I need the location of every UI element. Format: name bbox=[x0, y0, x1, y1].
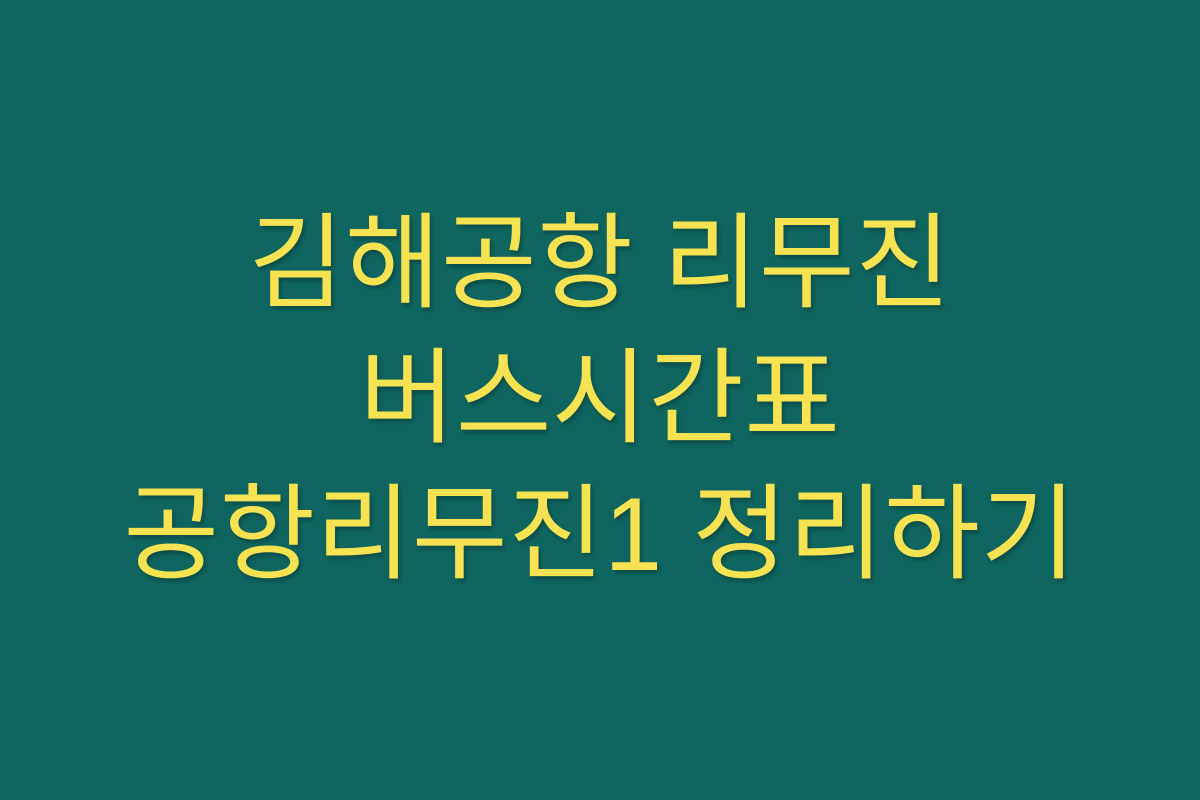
page-title: 김해공항 리무진 버스시간표 공항리무진1 정리하기 bbox=[104, 197, 1096, 603]
thumbnail-canvas: 김해공항 리무진 버스시간표 공항리무진1 정리하기 bbox=[0, 0, 1200, 800]
title-block: 김해공항 리무진 버스시간표 공항리무진1 정리하기 bbox=[104, 197, 1096, 603]
